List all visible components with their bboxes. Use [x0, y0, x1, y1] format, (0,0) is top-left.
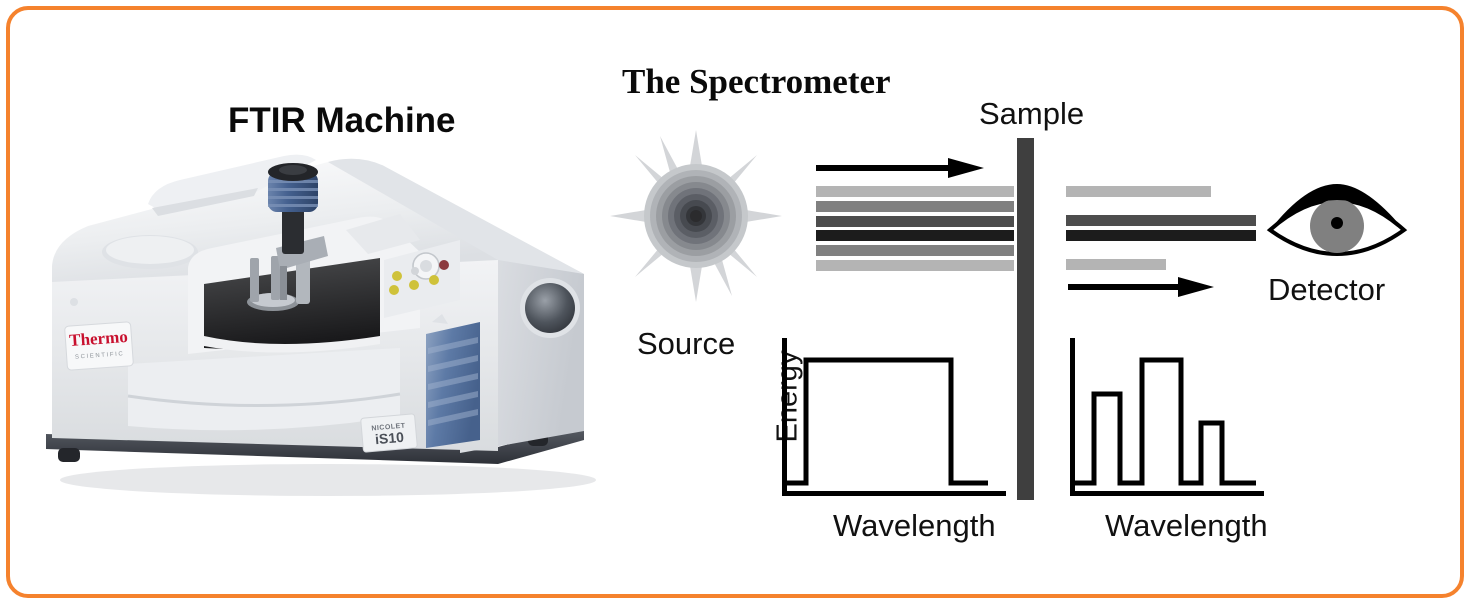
- beam-bar-out-1: [1066, 186, 1211, 197]
- chart-right-x-axis: [1070, 491, 1264, 496]
- beam-bar-in-6: [816, 260, 1014, 271]
- sample-bar: [1017, 138, 1034, 500]
- machine-foot-left: [58, 448, 80, 462]
- ftir-machine-illustration: Thermo SCIENTIFIC NICOLET iS10: [28, 148, 612, 500]
- starburst-source-icon: [608, 128, 784, 304]
- detector-label: Detector: [1268, 272, 1385, 308]
- beam-bar-out-4: [1066, 259, 1166, 270]
- machine-probe-post-a: [250, 258, 259, 302]
- wavelength-axis-label-right: Wavelength: [1105, 508, 1268, 544]
- machine-shadow: [60, 464, 596, 496]
- page-title-spectrometer: The Spectrometer: [622, 62, 891, 102]
- wavelength-axis-label-left: Wavelength: [833, 508, 996, 544]
- machine-front-screw: [70, 298, 78, 306]
- eye-detector-icon: [1266, 176, 1408, 268]
- beam-bar-in-2: [816, 201, 1014, 212]
- machine-led-1: [392, 271, 402, 281]
- beam-bar-in-5: [816, 245, 1014, 256]
- chart-right-y-axis: [1070, 338, 1075, 496]
- transmitted-spectrum-chart: [1066, 338, 1272, 508]
- machine-blue-accent-panel: [426, 322, 480, 448]
- machine-model-badge: NICOLET iS10: [361, 414, 418, 453]
- beam-bar-out-3: [1066, 230, 1256, 241]
- machine-probe-post-b: [271, 256, 280, 300]
- machine-press-tip: [280, 266, 287, 300]
- machine-knob-cap-inner: [279, 165, 307, 175]
- machine-led-3: [439, 260, 449, 270]
- source-label: Source: [637, 326, 735, 362]
- eye-pupil: [1331, 217, 1343, 229]
- machine-port-lens: [525, 283, 575, 333]
- machine-led-4: [389, 285, 399, 295]
- sample-label: Sample: [979, 96, 1084, 132]
- beam-bar-out-2: [1066, 215, 1256, 226]
- beam-bar-in-3: [816, 216, 1014, 227]
- figure-canvas: FTIR Machine: [0, 0, 1474, 608]
- beam-bar-in-4: [816, 230, 1014, 241]
- beam-bar-in-1: [816, 186, 1014, 197]
- chart-left-trace: [784, 360, 988, 483]
- outgoing-beam-arrow: [1068, 277, 1214, 297]
- chart-left-y-axis: [782, 338, 787, 496]
- machine-model-name: iS10: [374, 429, 404, 447]
- machine-led-6: [429, 275, 439, 285]
- machine-brand-badge: Thermo SCIENTIFIC: [65, 322, 134, 370]
- page-title-ftir-machine: FTIR Machine: [228, 101, 456, 141]
- starburst-core-rings: [644, 164, 748, 268]
- machine-led-5: [409, 280, 419, 290]
- machine-top-well-inner: [106, 236, 194, 264]
- chart-right-trace: [1072, 360, 1256, 483]
- chart-left-x-axis: [782, 491, 1006, 496]
- machine-led-2: [411, 267, 419, 275]
- source-spectrum-chart: [776, 338, 1012, 508]
- incoming-beam-arrow: [816, 158, 984, 178]
